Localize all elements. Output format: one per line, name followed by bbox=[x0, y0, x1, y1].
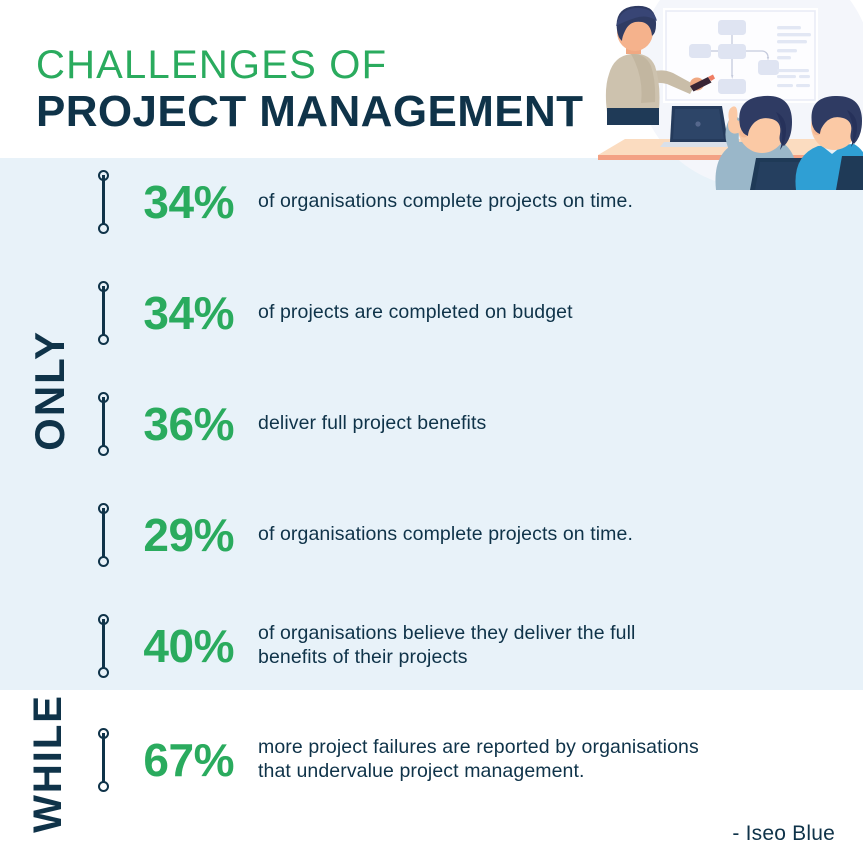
stat-description-line: benefits of their projects bbox=[258, 646, 636, 670]
stat-value: 67% bbox=[116, 737, 234, 783]
stat-row: 34% of projects are completed on budget bbox=[0, 281, 863, 345]
stat-row: 40% of organisations believe they delive… bbox=[0, 614, 863, 678]
stat-row: 34% of organisations complete projects o… bbox=[0, 170, 863, 234]
stat-description-line: more project failures are reported by or… bbox=[258, 736, 699, 760]
bar-marker-icon bbox=[96, 728, 110, 792]
stat-description-line: of organisations complete projects on ti… bbox=[258, 190, 633, 214]
attribution: - Iseo Blue bbox=[732, 822, 835, 846]
project-meeting-illustration bbox=[590, 0, 863, 190]
marker-stem-icon bbox=[102, 508, 105, 562]
stat-description: more project failures are reported by or… bbox=[258, 736, 699, 784]
marker-stem-icon bbox=[102, 175, 105, 229]
bar-marker-icon bbox=[96, 281, 110, 345]
marker-ring-bottom-icon bbox=[98, 223, 109, 234]
marker-ring-bottom-icon bbox=[98, 556, 109, 567]
marker-ring-bottom-icon bbox=[98, 667, 109, 678]
marker-stem-icon bbox=[102, 397, 105, 451]
marker-stem-icon bbox=[102, 619, 105, 673]
stat-description-line: of projects are completed on budget bbox=[258, 301, 573, 325]
stat-description: of organisations believe they deliver th… bbox=[258, 622, 636, 670]
stat-value: 40% bbox=[116, 623, 234, 669]
stat-description: of organisations complete projects on ti… bbox=[258, 190, 633, 214]
infographic-page: CHALLENGES OF PROJECT MANAGEMENT ONLY WH… bbox=[0, 0, 863, 863]
bar-marker-icon bbox=[96, 503, 110, 567]
stat-description: of organisations complete projects on ti… bbox=[258, 523, 633, 547]
stat-description-line: deliver full project benefits bbox=[258, 412, 486, 436]
title-line-1: CHALLENGES OF bbox=[36, 44, 583, 86]
marker-stem-icon bbox=[102, 733, 105, 787]
stat-description: of projects are completed on budget bbox=[258, 301, 573, 325]
stat-description-line: of organisations believe they deliver th… bbox=[258, 622, 636, 646]
stat-value: 36% bbox=[116, 401, 234, 447]
stat-row-while: 67% more project failures are reported b… bbox=[0, 728, 863, 792]
stat-description-line: of organisations complete projects on ti… bbox=[258, 523, 633, 547]
bar-marker-icon bbox=[96, 614, 110, 678]
marker-ring-bottom-icon bbox=[98, 781, 109, 792]
stat-description-line: that undervalue project management. bbox=[258, 760, 699, 784]
title-line-2: PROJECT MANAGEMENT bbox=[36, 86, 583, 138]
stat-description: deliver full project benefits bbox=[258, 412, 486, 436]
stat-value: 29% bbox=[116, 512, 234, 558]
marker-ring-bottom-icon bbox=[98, 334, 109, 345]
bar-marker-icon bbox=[96, 392, 110, 456]
marker-ring-bottom-icon bbox=[98, 445, 109, 456]
page-title: CHALLENGES OF PROJECT MANAGEMENT bbox=[36, 44, 583, 138]
marker-stem-icon bbox=[102, 286, 105, 340]
stat-row: 36% deliver full project benefits bbox=[0, 392, 863, 456]
stat-row: 29% of organisations complete projects o… bbox=[0, 503, 863, 567]
stat-value: 34% bbox=[116, 290, 234, 336]
bar-marker-icon bbox=[96, 170, 110, 234]
stat-value: 34% bbox=[116, 179, 234, 225]
